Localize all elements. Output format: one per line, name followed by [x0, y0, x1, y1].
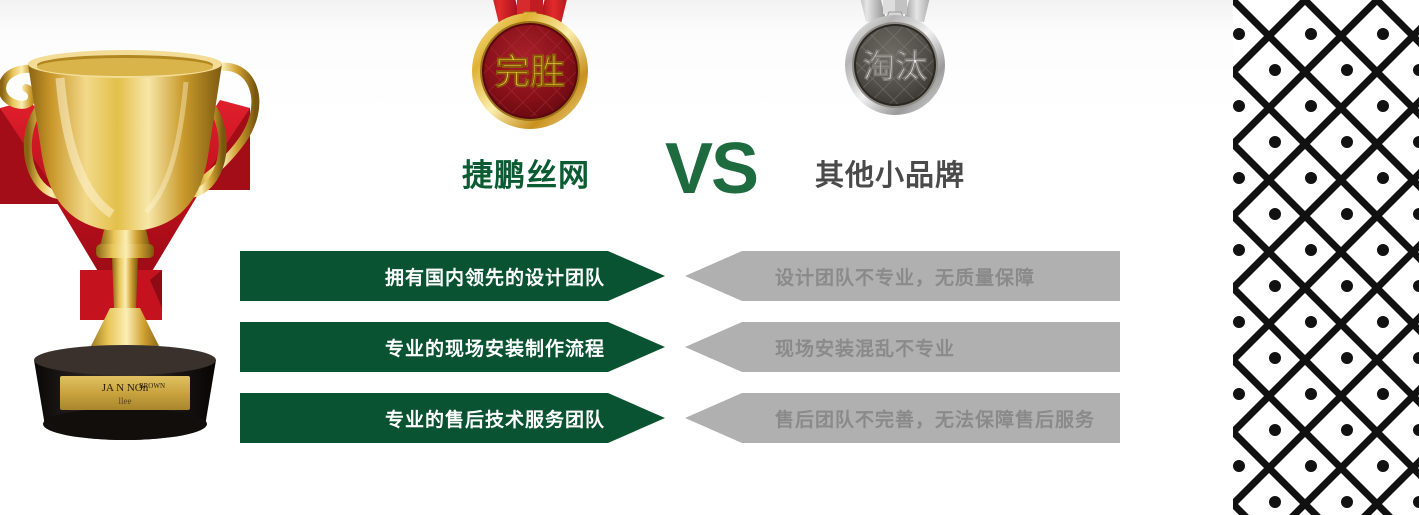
con-bar: 售后团队不完善，无法保障售后服务	[685, 393, 1120, 443]
comparison-row: 拥有国内领先的设计团队 设计团队不专业，无质量保障	[240, 251, 1120, 301]
pro-bar: 专业的售后技术服务团队	[240, 393, 665, 443]
con-bar-label: 现场安装混乱不专业	[775, 322, 955, 372]
pro-bar-label: 专业的售后技术服务团队	[385, 405, 605, 432]
chain-link-fence-illustration	[1233, 0, 1419, 515]
con-bar: 现场安装混乱不专业	[685, 322, 1120, 372]
con-bar-label: 售后团队不完善，无法保障售后服务	[775, 393, 1095, 443]
comparison-banner: JA N NOn BROWN llee	[0, 0, 1419, 515]
pro-bar: 专业的现场安装制作流程	[240, 322, 665, 372]
con-bar-label: 设计团队不专业，无质量保障	[775, 251, 1035, 301]
comparison-row: 专业的现场安装制作流程 现场安装混乱不专业	[240, 322, 1120, 372]
pro-bar-label: 专业的现场安装制作流程	[385, 334, 605, 361]
con-bar: 设计团队不专业，无质量保障	[685, 251, 1120, 301]
comparison-rows: 拥有国内领先的设计团队 设计团队不专业，无质量保障 专业的现场安装制作流程 现场…	[0, 0, 1419, 515]
pro-bar: 拥有国内领先的设计团队	[240, 251, 665, 301]
pro-bar-label: 拥有国内领先的设计团队	[385, 263, 605, 290]
chain-link-fence-image	[1233, 0, 1419, 515]
comparison-row: 专业的售后技术服务团队 售后团队不完善，无法保障售后服务	[240, 393, 1120, 443]
